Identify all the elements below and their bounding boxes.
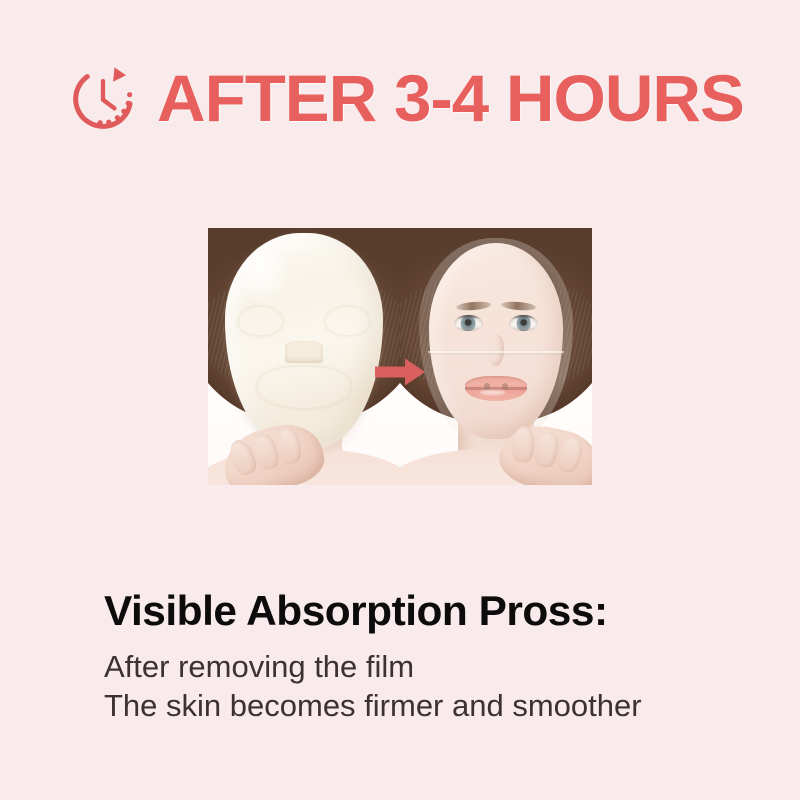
- finger: [511, 426, 535, 463]
- mask-nose-cutout: [285, 341, 323, 363]
- mask-sheen: [244, 250, 291, 306]
- film-edge-line: [428, 351, 563, 353]
- caption-heading: Visible Absorption Pross:: [104, 586, 771, 636]
- mask-eye-cutout-right: [326, 307, 369, 335]
- mask-mouth-cutout: [258, 367, 349, 408]
- mask-eye-cutout-left: [239, 307, 282, 335]
- portrait-before: [208, 228, 400, 485]
- sheet-mask: [225, 233, 382, 449]
- absorbed-film-layer: [419, 238, 573, 444]
- caption-block: Visible Absorption Pross: After removing…: [104, 586, 764, 725]
- promo-poster: AFTER 3-4 HOURS: [0, 0, 800, 800]
- portrait-after: [400, 228, 592, 485]
- clock-rotate-icon: [67, 63, 139, 135]
- finger: [554, 434, 585, 475]
- header-banner: AFTER 3-4 HOURS: [0, 52, 800, 144]
- finger: [276, 426, 303, 465]
- photo-pane-after: [400, 228, 592, 485]
- right-arrow-icon: [375, 357, 425, 387]
- caption-lines: After removing the film The skin becomes…: [104, 647, 764, 725]
- page-title: AFTER 3-4 HOURS: [157, 65, 744, 131]
- photo-pane-before: [208, 228, 400, 485]
- before-after-image: [208, 228, 592, 485]
- caption-line-1: After removing the film: [104, 647, 764, 686]
- caption-line-2: The skin becomes firmer and smoother: [104, 686, 764, 725]
